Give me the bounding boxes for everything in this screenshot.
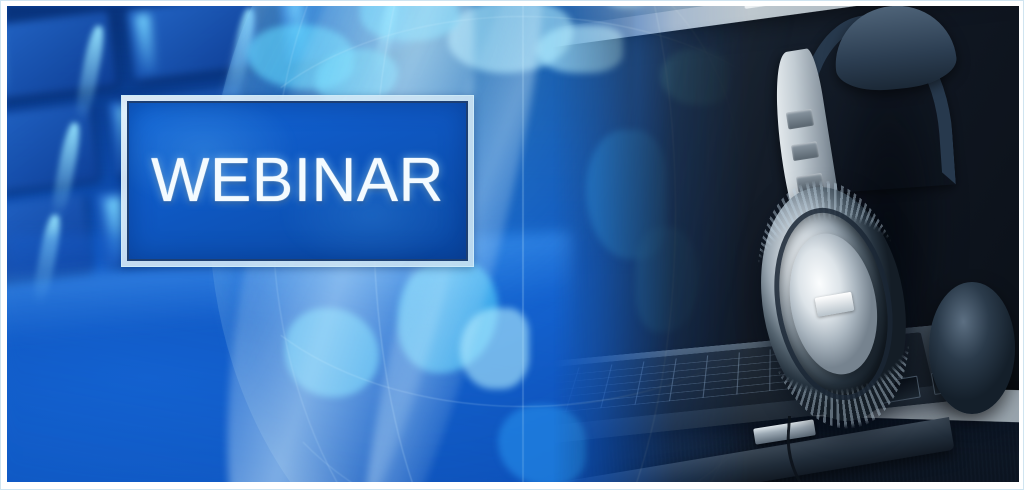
banner-white-mat: WEBINAR (0, 0, 1024, 490)
page-title: WEBINAR (129, 103, 465, 259)
far-ear-cup (929, 282, 1014, 413)
laptop-photo (553, 6, 1019, 482)
webinar-title-plate: WEBINAR (121, 95, 473, 267)
webinar-banner: WEBINAR (0, 0, 1024, 490)
plate-inner-panel: WEBINAR (127, 101, 467, 261)
banner-artwork: WEBINAR (7, 6, 1019, 482)
arm-slot (791, 141, 819, 161)
headphones (758, 11, 1009, 449)
arm-slot (786, 109, 814, 129)
webcam-strip-icon (745, 6, 813, 9)
